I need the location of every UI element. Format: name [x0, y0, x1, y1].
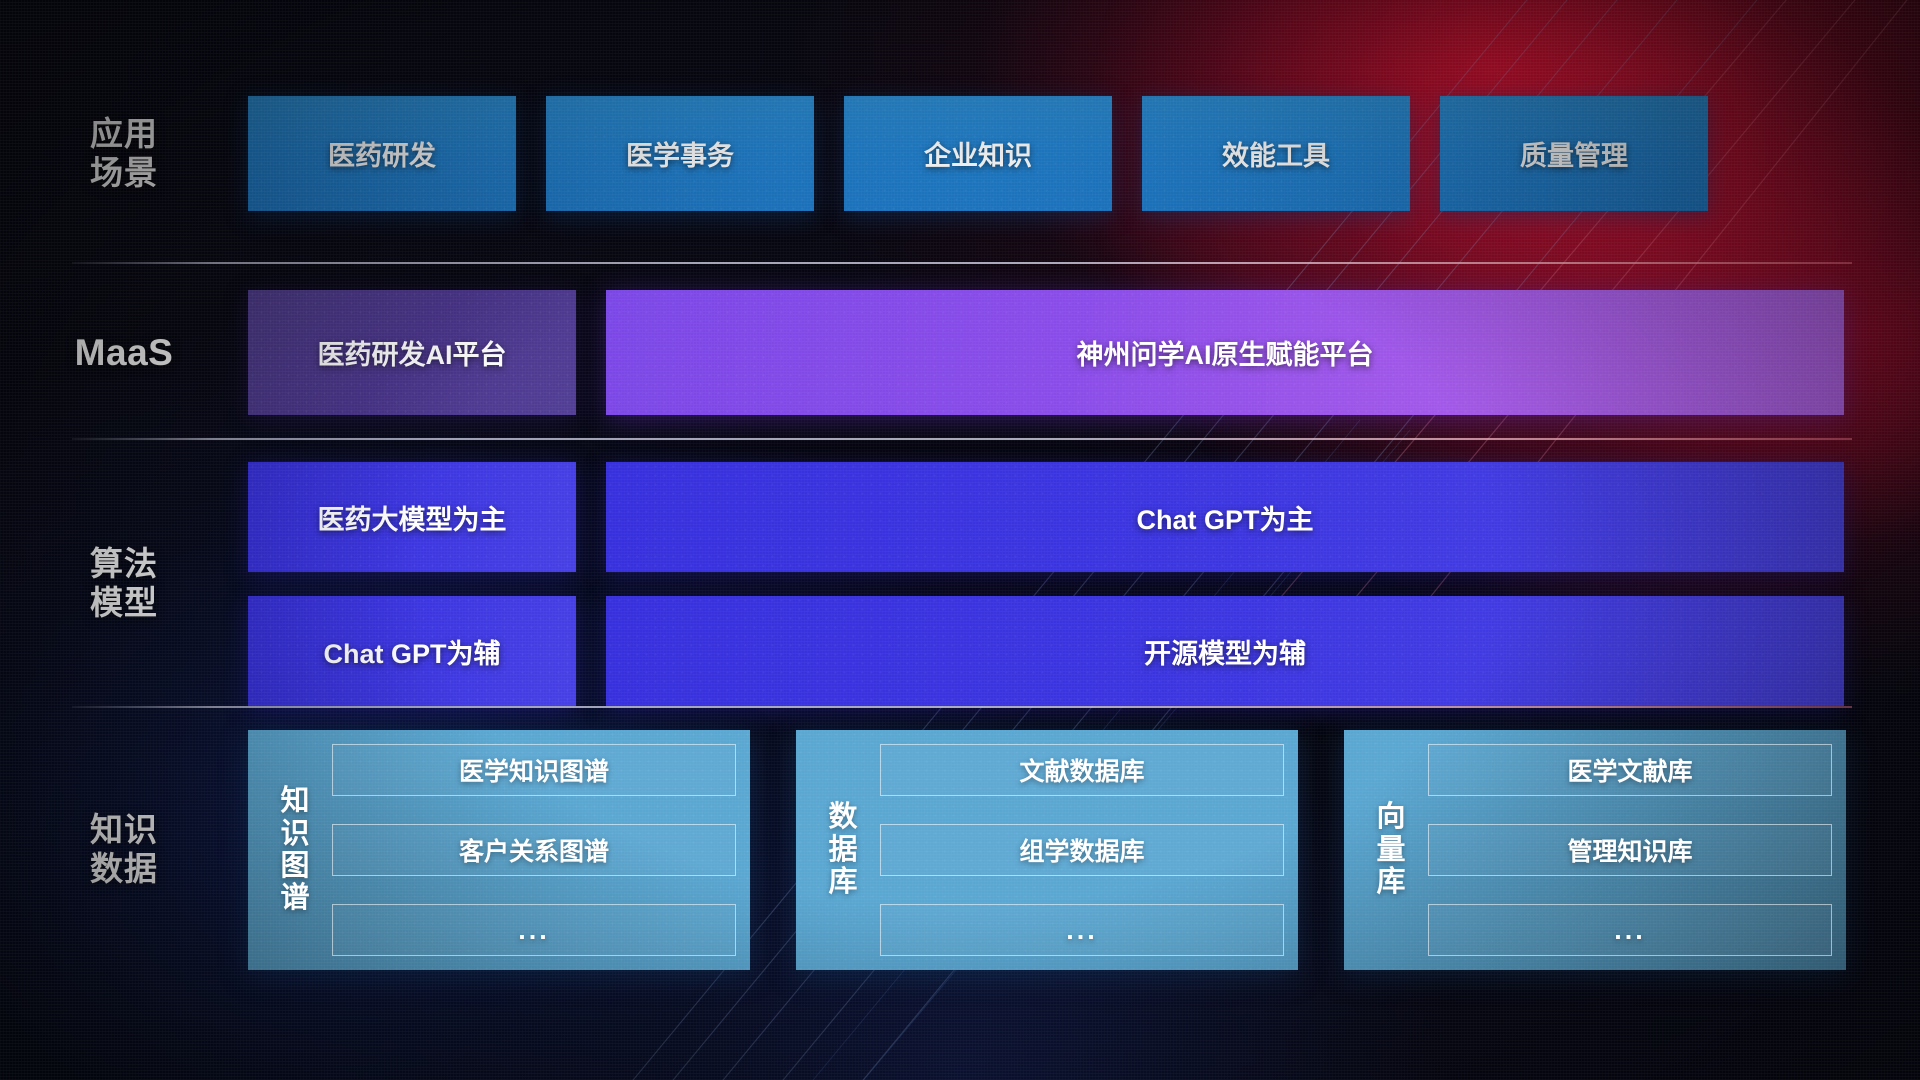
maas-box-pharma-platform-label: 医药研发AI平台: [318, 333, 507, 372]
app-box-5[interactable]: 质量管理: [1440, 96, 1708, 211]
row-algorithm-models: 算法 模型 医药大模型为主 Chat GPT为主 Chat GPT为辅 开源模型…: [0, 462, 1920, 706]
app-box-1[interactable]: 医药研发: [248, 96, 516, 211]
knowledge-item-graph-2[interactable]: 客户关系图谱: [332, 824, 736, 876]
knowledge-item-vector-1[interactable]: 医学文献库: [1428, 744, 1832, 796]
app-box-2[interactable]: 医学事务: [546, 96, 814, 211]
app-box-3-label: 企业知识: [924, 134, 1032, 173]
knowledge-item-vector-3[interactable]: ...: [1428, 904, 1832, 956]
row-label-maas: MaaS: [0, 331, 248, 375]
algo-box-chatgpt-secondary-label: Chat GPT为辅: [323, 632, 500, 671]
divider-1: [72, 262, 1852, 264]
maas-box-shenzhou-platform-label: 神州问学AI原生赋能平台: [1077, 333, 1374, 372]
app-box-3[interactable]: 企业知识: [844, 96, 1112, 211]
row-maas: MaaS 医药研发AI平台 神州问学AI原生赋能平台: [0, 290, 1920, 415]
row-label-application-scenarios: 应用 场景: [0, 115, 248, 193]
app-box-2-label: 医学事务: [626, 134, 734, 173]
app-box-5-label: 质量管理: [1520, 134, 1628, 173]
row-label-knowledge-data: 知识 数据: [0, 811, 248, 889]
algo-box-opensource-secondary[interactable]: 开源模型为辅: [606, 596, 1844, 706]
algo-box-chatgpt-primary-label: Chat GPT为主: [1136, 498, 1313, 537]
row-application-scenarios: 应用 场景 医药研发 医学事务 企业知识 效能工具 质量管理: [0, 96, 1920, 211]
knowledge-panel-graph-side-label: 知 识 图 谱: [258, 744, 332, 956]
divider-3: [72, 706, 1852, 708]
app-box-1-label: 医药研发: [328, 134, 436, 173]
algo-box-pharma-primary-label: 医药大模型为主: [318, 498, 507, 537]
knowledge-item-database-1[interactable]: 文献数据库: [880, 744, 1284, 796]
divider-2: [72, 438, 1852, 440]
algo-box-chatgpt-secondary[interactable]: Chat GPT为辅: [248, 596, 576, 706]
knowledge-item-vector-2[interactable]: 管理知识库: [1428, 824, 1832, 876]
knowledge-item-graph-1[interactable]: 医学知识图谱: [332, 744, 736, 796]
knowledge-panel-database-side-label: 数 据 库: [806, 744, 880, 956]
app-box-4-label: 效能工具: [1222, 134, 1330, 173]
algo-box-pharma-primary[interactable]: 医药大模型为主: [248, 462, 576, 572]
knowledge-item-database-3[interactable]: ...: [880, 904, 1284, 956]
knowledge-panel-vector-side-label: 向 量 库: [1354, 744, 1428, 956]
algo-box-opensource-secondary-label: 开源模型为辅: [1144, 632, 1306, 671]
maas-box-shenzhou-platform[interactable]: 神州问学AI原生赋能平台: [606, 290, 1844, 415]
architecture-diagram: 应用 场景 医药研发 医学事务 企业知识 效能工具 质量管理: [0, 0, 1920, 1080]
maas-box-pharma-platform[interactable]: 医药研发AI平台: [248, 290, 576, 415]
app-box-4[interactable]: 效能工具: [1142, 96, 1410, 211]
row-label-algorithm-models: 算法 模型: [0, 545, 248, 623]
row-knowledge-data: 知识 数据 知 识 图 谱 医学知识图谱 客户关系图谱: [0, 730, 1920, 970]
knowledge-item-graph-3[interactable]: ...: [332, 904, 736, 956]
knowledge-panel-database[interactable]: 数 据 库 文献数据库 组学数据库 ...: [796, 730, 1298, 970]
knowledge-item-database-2[interactable]: 组学数据库: [880, 824, 1284, 876]
knowledge-panel-vector[interactable]: 向 量 库 医学文献库 管理知识库 ...: [1344, 730, 1846, 970]
algo-box-chatgpt-primary[interactable]: Chat GPT为主: [606, 462, 1844, 572]
knowledge-panel-graph[interactable]: 知 识 图 谱 医学知识图谱 客户关系图谱 ...: [248, 730, 750, 970]
